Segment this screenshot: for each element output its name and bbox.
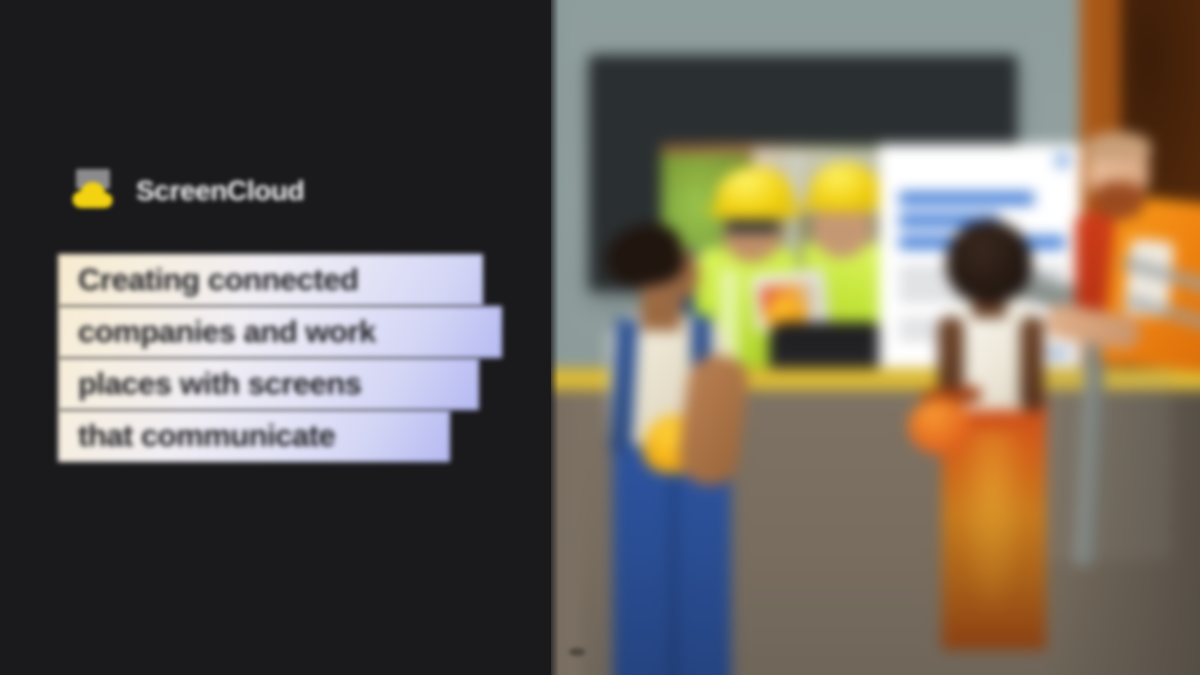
person-blue-overalls — [579, 215, 749, 675]
person1-overalls-seam — [671, 465, 676, 675]
headline-line: places with screens — [58, 358, 361, 410]
headline-row: places with screens — [58, 358, 518, 410]
slide-canvas: ScreenCloud Creating connected companies… — [0, 0, 1200, 675]
cloud-on-screen-icon — [68, 168, 120, 214]
person2-arm — [1020, 316, 1044, 412]
headline-row: companies and work — [58, 306, 518, 358]
headline-row: that communicate — [58, 410, 518, 462]
headline-line: that communicate — [58, 410, 335, 462]
scene-blur-layer — [551, 0, 1200, 675]
hero-text-panel: ScreenCloud Creating connected companies… — [0, 0, 551, 675]
scene-photo — [551, 0, 1200, 675]
headline-highlight: places with screens — [58, 358, 479, 410]
floor-left-shadow — [551, 390, 581, 675]
brand-lockup[interactable]: ScreenCloud — [68, 166, 304, 216]
person-orange-skirt — [916, 220, 1066, 650]
lens-smudge — [569, 648, 585, 656]
brand-name: ScreenCloud — [136, 175, 304, 207]
headline-highlight: that communicate — [58, 410, 450, 462]
wall-left-shadow — [551, 0, 567, 390]
person2-skirt-pattern — [956, 430, 1028, 620]
person3-hair — [1085, 132, 1151, 160]
headline-row: Creating connected — [58, 254, 518, 306]
person2-hair — [946, 220, 1032, 304]
person-orange-vest — [1051, 120, 1200, 540]
person3-beard — [1093, 182, 1145, 220]
photo-dark-jacket — [769, 322, 879, 372]
headline-highlight: Creating connected — [58, 254, 483, 306]
headline-highlight: companies and work — [58, 306, 502, 358]
headline-line: companies and work — [58, 306, 376, 358]
photo-worker-b-hardhat — [809, 162, 879, 212]
card-heading-line — [899, 192, 1034, 205]
page-title: Creating connected companies and work pl… — [58, 254, 518, 462]
person2-orange-hardhat — [908, 398, 972, 454]
headline-line: Creating connected — [58, 254, 358, 306]
